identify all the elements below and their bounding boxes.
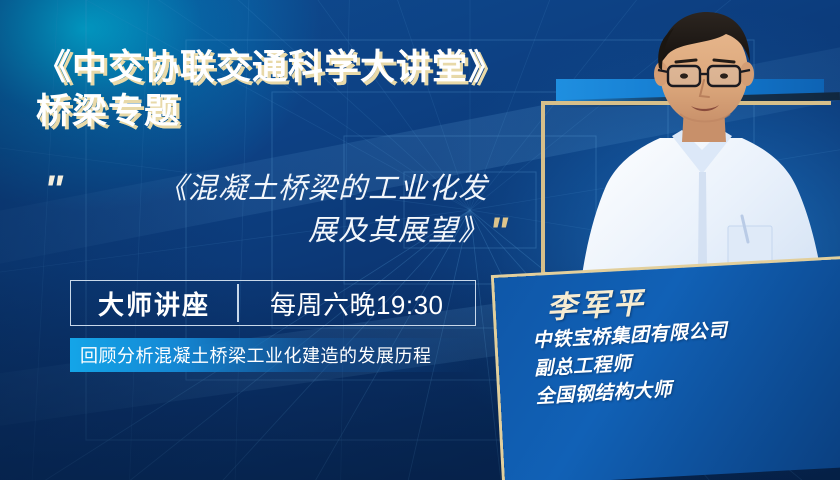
headline-line-2: 桥梁专题: [36, 90, 556, 134]
tagline-strip: 回顾分析混凝土桥梁工业化建造的发展历程: [70, 338, 476, 372]
lecture-title-block: " 《混凝土桥梁的工业化发 展及其展望》 ": [44, 168, 544, 268]
lecture-series-label: 大师讲座: [71, 281, 237, 325]
tagline-text: 回顾分析混凝土桥梁工业化建造的发展历程: [80, 342, 432, 368]
lecture-title-line-1: 《混凝土桥梁的工业化发: [88, 168, 488, 210]
quote-close-icon: ": [489, 212, 506, 252]
lecture-title: 《混凝土桥梁的工业化发 展及其展望》: [88, 168, 488, 252]
schedule-info-box: 大师讲座 每周六晚19:30: [70, 280, 476, 326]
quote-open-icon: ": [44, 170, 61, 210]
lecture-schedule-text: 每周六晚19:30: [239, 281, 476, 325]
lecture-title-line-2: 展及其展望》: [88, 210, 488, 252]
headline-line-1: 《中交协联交通科学大讲堂》: [36, 46, 556, 90]
lecture-poster: 《中交协联交通科学大讲堂》 桥梁专题 " 《混凝土桥梁的工业化发 展及其展望》 …: [0, 0, 840, 480]
headline: 《中交协联交通科学大讲堂》 桥梁专题: [36, 46, 556, 134]
speaker-info-text: 李军平 中铁宝桥集团有限公司 副总工程师 全国钢结构大师: [530, 275, 840, 412]
